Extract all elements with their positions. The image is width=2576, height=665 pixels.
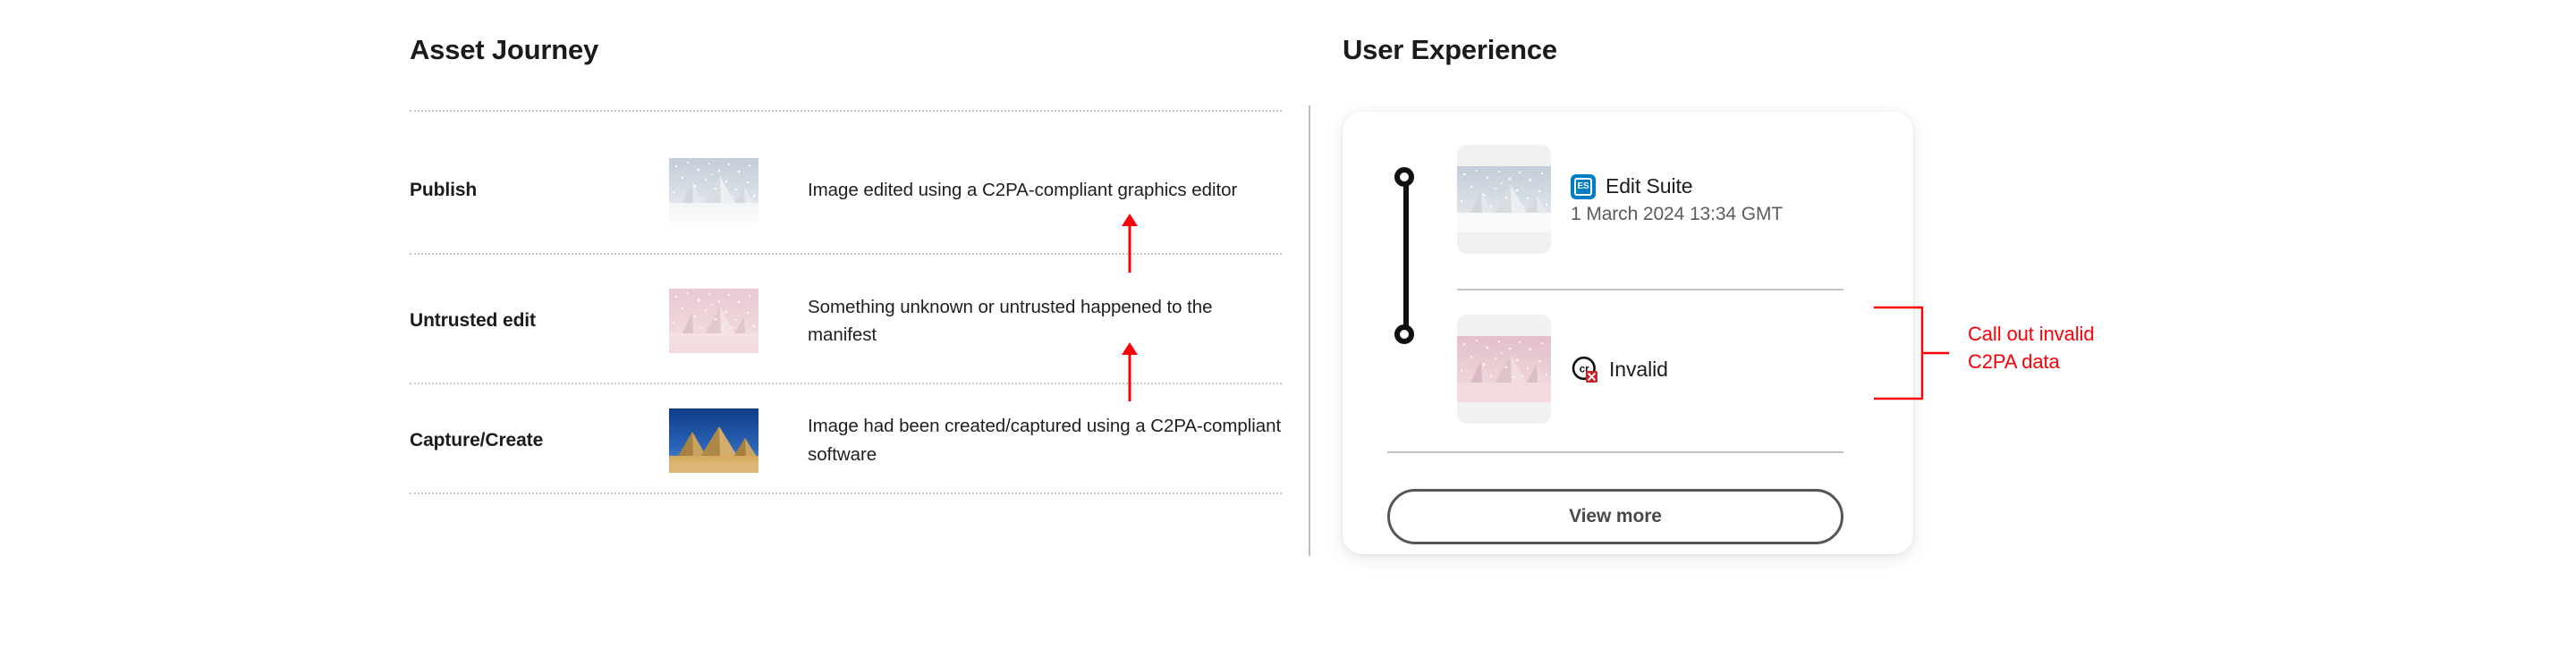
list-item-timestamp: 1 March 2024 13:34 GMT [1571,204,1783,225]
dotted-divider [410,253,1282,255]
list-item-title: Invalid [1609,358,1668,382]
list-item[interactable]: ES Edit Suite 1 March 2024 13:34 GMT [1457,145,1783,254]
arrow-up-icon [1118,342,1141,401]
journey-description: Something unknown or untrusted happened … [808,293,1282,349]
pink-tinted-pyramids-thumbnail [1457,315,1551,424]
list-item-text: cr Invalid [1571,355,1668,383]
dotted-divider [410,110,1282,112]
content-credentials-card: ES Edit Suite 1 March 2024 13:34 GMT [1343,112,1913,554]
journey-thumbnail-cell [669,408,808,473]
pink-tinted-pyramids-thumbnail [669,289,758,353]
journey-row: Untrusted edit [410,268,1282,374]
user-experience-title: User Experience [1343,33,1557,66]
asset-journey-panel: Asset Journey Publish [410,0,1282,665]
asset-journey-title: Asset Journey [410,33,598,66]
content-credentials-invalid-icon: cr [1571,355,1599,383]
list-item-text: ES Edit Suite 1 March 2024 13:34 GMT [1571,174,1783,225]
snowy-pyramids-thumbnail [669,158,758,223]
journey-row: Capture/Create [410,393,1282,487]
journey-thumbnail-cell [669,158,808,223]
thumbnail-media [1457,166,1551,232]
journey-description: Image edited using a C2PA-compliant grap… [808,176,1282,204]
desert-pyramids-thumbnail [669,408,758,473]
journey-stage-label: Untrusted edit [410,310,669,332]
timeline-rail [1403,177,1409,334]
journey-row: Publish [410,134,1282,246]
thumbnail-media [1457,336,1551,402]
edit-suite-app-icon: ES [1571,174,1596,199]
timeline-connector-icon [1394,167,1418,346]
journey-thumbnail-cell [669,289,808,353]
list-separator [1387,451,1843,453]
journey-stage-label: Publish [410,180,669,201]
list-item-title: Edit Suite [1606,174,1692,198]
arrow-up-icon [1118,214,1141,273]
snowy-pyramids-thumbnail [1457,145,1551,254]
list-item-title-line: cr Invalid [1571,355,1668,383]
timeline-dot-bottom [1394,324,1414,344]
column-divider [1309,105,1310,556]
callout-text: Call out invalid C2PA data [1968,320,2094,375]
edit-suite-app-icon-label: ES [1574,178,1592,196]
callout-annotation: Call out invalid C2PA data [1874,304,2250,402]
annotation-bracket-icon [1874,304,1963,402]
timeline-dot-top [1394,167,1414,187]
dotted-divider [410,492,1282,494]
journey-stage-label: Capture/Create [410,430,669,451]
journey-description: Image had been created/captured using a … [808,412,1282,467]
list-item[interactable]: cr Invalid [1457,315,1668,424]
view-more-button[interactable]: View more [1387,489,1843,544]
list-item-title-line: ES Edit Suite [1571,174,1783,199]
list-separator [1457,289,1843,290]
dotted-divider [410,383,1282,384]
